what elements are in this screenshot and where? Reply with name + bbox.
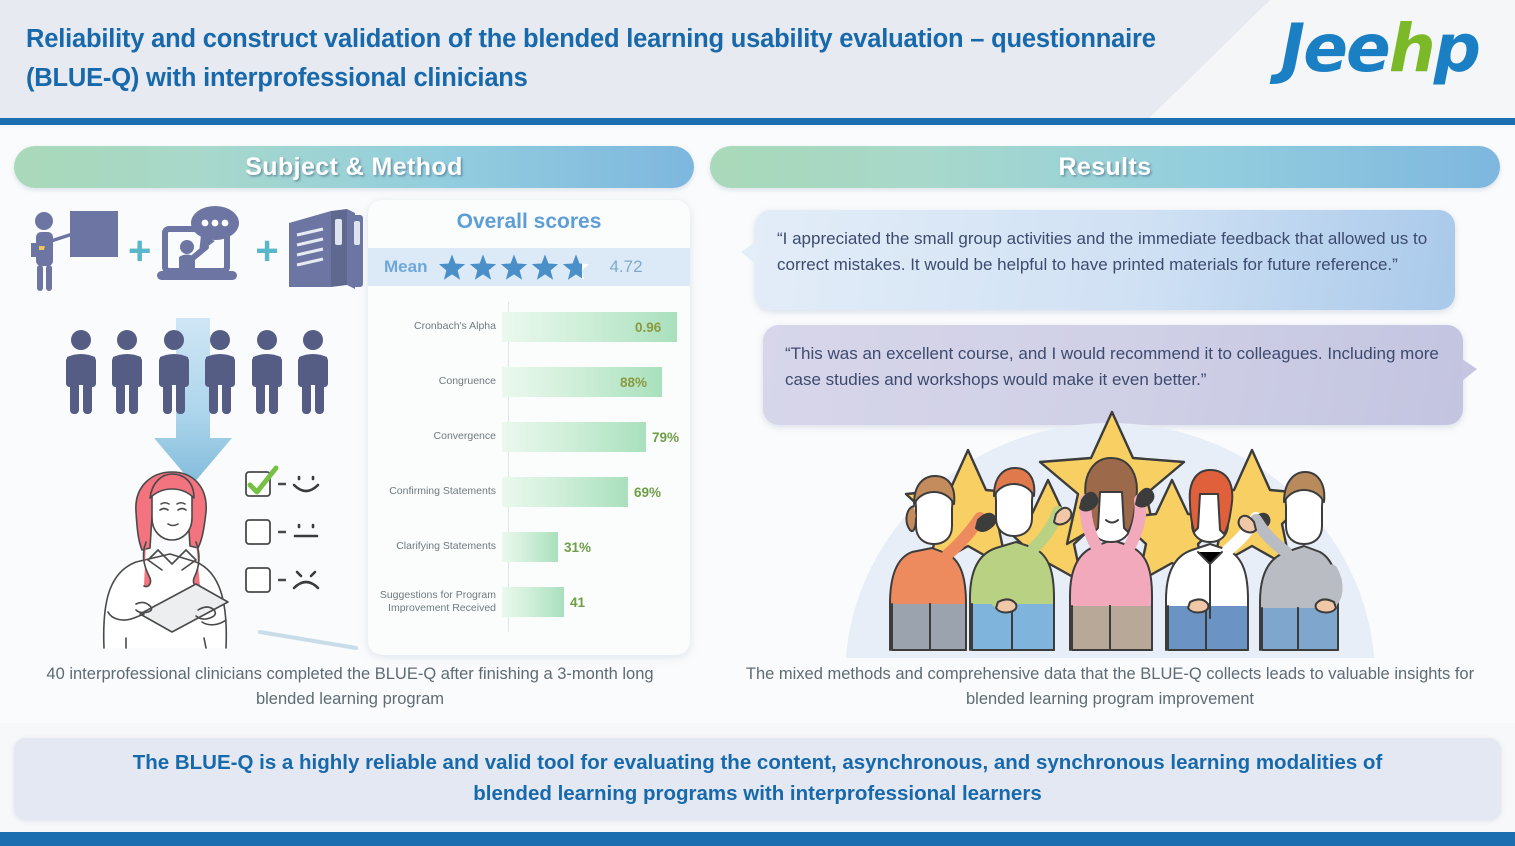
bar-value-label: 79% xyxy=(652,430,679,445)
conclusion-banner: The BLUE-Q is a highly reliable and vali… xyxy=(14,738,1501,820)
bar-track: 31% xyxy=(502,532,690,562)
subject-method-caption: 40 interprofessional clinicians complete… xyxy=(20,662,680,712)
results-caption: The mixed methods and comprehensive data… xyxy=(730,662,1490,712)
bar-row: Clarifying Statements31% xyxy=(368,532,690,562)
section-banner-subject-method: Subject & Method xyxy=(14,146,694,188)
five-star-team-illustration xyxy=(820,408,1400,658)
mean-label: Mean xyxy=(384,257,427,277)
person-icon xyxy=(108,329,146,420)
instructor-whiteboard-icon xyxy=(26,205,122,298)
bar-category-label: Clarifying Statements xyxy=(368,540,502,553)
section-banner-results: Results xyxy=(710,146,1500,188)
logo-text-h: h xyxy=(1389,10,1434,87)
conclusion-text: The BLUE-Q is a highly reliable and vali… xyxy=(133,748,1383,810)
person-icon xyxy=(155,329,193,420)
bar-track: 0.96 xyxy=(502,312,690,342)
bar-row: Convergence79% xyxy=(368,422,690,452)
person-icon xyxy=(62,329,100,420)
bar-fill xyxy=(502,422,646,452)
bar-track: 79% xyxy=(502,422,690,452)
graphical-abstract-poster: Reliability and construct validation of … xyxy=(0,0,1515,846)
person-icon xyxy=(248,329,286,420)
bar-fill xyxy=(502,532,558,562)
mean-star-rating xyxy=(437,253,591,282)
bar-row: Confirming Statements69% xyxy=(368,477,690,507)
bar-value-label: 88% xyxy=(620,375,647,390)
person-icon xyxy=(294,329,332,420)
horizontal-bar-chart: Cronbach's Alpha0.96Congruence88%Converg… xyxy=(368,300,690,645)
bar-track: 88% xyxy=(502,367,690,397)
mean-value: 4.72 xyxy=(609,257,642,277)
bar-value-label: 31% xyxy=(564,540,591,555)
jeehp-logo: Jeehp xyxy=(1281,16,1479,82)
bar-row: Suggestions for Program Improvement Rece… xyxy=(368,587,690,617)
bar-category-label: Congruence xyxy=(368,375,502,388)
books-icon xyxy=(285,205,369,298)
clinicians-people-row xyxy=(62,330,332,420)
person-icon xyxy=(201,329,239,420)
plus-sign-1: + xyxy=(128,231,151,271)
section-banner-subject-method-label: Subject & Method xyxy=(245,153,463,182)
chart-title: Overall scores xyxy=(368,210,690,234)
survey-option-happy xyxy=(246,468,318,496)
star-icon xyxy=(499,253,529,282)
bar-row: Cronbach's Alpha0.96 xyxy=(368,312,690,342)
bar-value-label: 69% xyxy=(634,485,661,500)
participant-quote-1: “I appreciated the small group activitie… xyxy=(755,210,1455,310)
footer-divider-rule xyxy=(0,832,1515,846)
star-icon xyxy=(530,253,560,282)
poster-header: Reliability and construct validation of … xyxy=(0,0,1515,118)
method-icon-row: + + xyxy=(26,202,366,300)
bar-row: Congruence88% xyxy=(368,367,690,397)
plus-sign-2: + xyxy=(255,231,278,271)
bar-category-label: Convergence xyxy=(368,430,502,443)
logo-text-jee: Jee xyxy=(1281,10,1389,87)
overall-scores-chart-card: Overall scores Mean 4.72 Cronbach's Alph… xyxy=(368,200,690,655)
page-title: Reliability and construct validation of … xyxy=(26,20,1206,98)
survey-option-sad xyxy=(246,568,318,592)
survey-option-neutral xyxy=(246,520,317,544)
logo-text-p: p xyxy=(1434,10,1479,87)
star-icon xyxy=(468,253,498,282)
bar-category-label: Confirming Statements xyxy=(368,485,502,498)
bar-category-label: Suggestions for Program Improvement Rece… xyxy=(368,589,502,615)
bar-fill xyxy=(502,477,628,507)
star-icon xyxy=(561,253,591,282)
online-lecture-laptop-icon xyxy=(157,205,249,298)
star-icon xyxy=(437,253,467,282)
bar-fill xyxy=(502,587,564,617)
bar-value-label: 41 xyxy=(570,595,585,610)
bar-value-label: 0.96 xyxy=(635,320,661,335)
header-divider-rule xyxy=(0,118,1515,125)
survey-respondent-illustration xyxy=(78,462,358,652)
chart-axis-line xyxy=(508,302,509,632)
bar-track: 41 xyxy=(502,587,690,617)
mean-score-row: Mean 4.72 xyxy=(368,248,690,286)
bar-track: 69% xyxy=(502,477,690,507)
section-banner-results-label: Results xyxy=(1058,153,1151,182)
bar-category-label: Cronbach's Alpha xyxy=(368,320,502,333)
